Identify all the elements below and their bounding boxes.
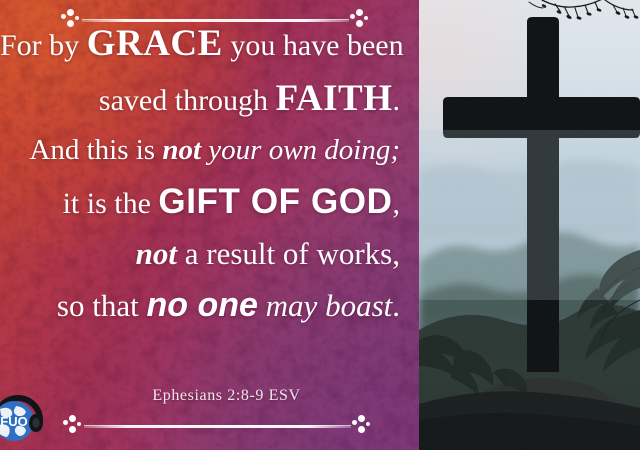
- verse-text-run: For by: [0, 29, 87, 62]
- verse-poster: For by GRACE you have been saved through…: [0, 0, 640, 450]
- verse-emphasis-faith: FAITH: [276, 78, 393, 119]
- dot-cluster-icon: [60, 9, 82, 31]
- globe-headphones-logo: FUO: [0, 392, 48, 444]
- verse-emphasis-not: not: [162, 134, 201, 166]
- verse-line-3: And this is not your own doing;: [0, 136, 400, 165]
- logo-wordmark: FUO: [0, 414, 27, 429]
- verse-line-6: so that no one may boast.: [0, 288, 400, 322]
- verse-emphasis-not: not: [136, 236, 177, 271]
- verse-text-run: .: [392, 288, 400, 323]
- verse-text-run: may boast: [258, 288, 392, 323]
- divider-line: [82, 19, 349, 22]
- verse-panel: For by GRACE you have been saved through…: [0, 0, 419, 450]
- dot-cluster-icon: [351, 415, 373, 437]
- verse-line-4: it is the GIFT OF GOD,: [0, 184, 400, 219]
- verse-text-run: ,: [393, 187, 401, 220]
- verse-text-run: so that: [57, 288, 147, 323]
- cross-photo-illustration: [419, 0, 640, 450]
- divider-line: [84, 425, 351, 428]
- verse-text-block: For by GRACE you have been saved through…: [0, 25, 419, 322]
- verse-text-run: your own doing;: [201, 134, 400, 166]
- dot-cluster-icon: [349, 9, 371, 31]
- verse-text-run: .: [393, 84, 401, 117]
- verse-text-run: a result of works,: [177, 236, 400, 271]
- verse-emphasis-gift-of-god: GIFT OF GOD: [158, 182, 392, 221]
- verse-text-run: And this is: [29, 134, 162, 166]
- verse-reference: Ephesians 2:8-9 ESV: [0, 387, 419, 405]
- decorative-divider-bottom: [62, 415, 373, 437]
- verse-emphasis-no-one: no one: [146, 286, 257, 324]
- verse-text-run: you have been: [223, 29, 404, 62]
- verse-line-2: saved through FAITH.: [0, 80, 400, 117]
- verse-text-run: it is the: [63, 187, 159, 220]
- cross-photo: [419, 0, 640, 450]
- decorative-divider-top: [60, 9, 371, 31]
- verse-text-run: saved through: [99, 84, 276, 117]
- verse-line-5: not a result of works,: [0, 238, 400, 269]
- dot-cluster-icon: [62, 415, 84, 437]
